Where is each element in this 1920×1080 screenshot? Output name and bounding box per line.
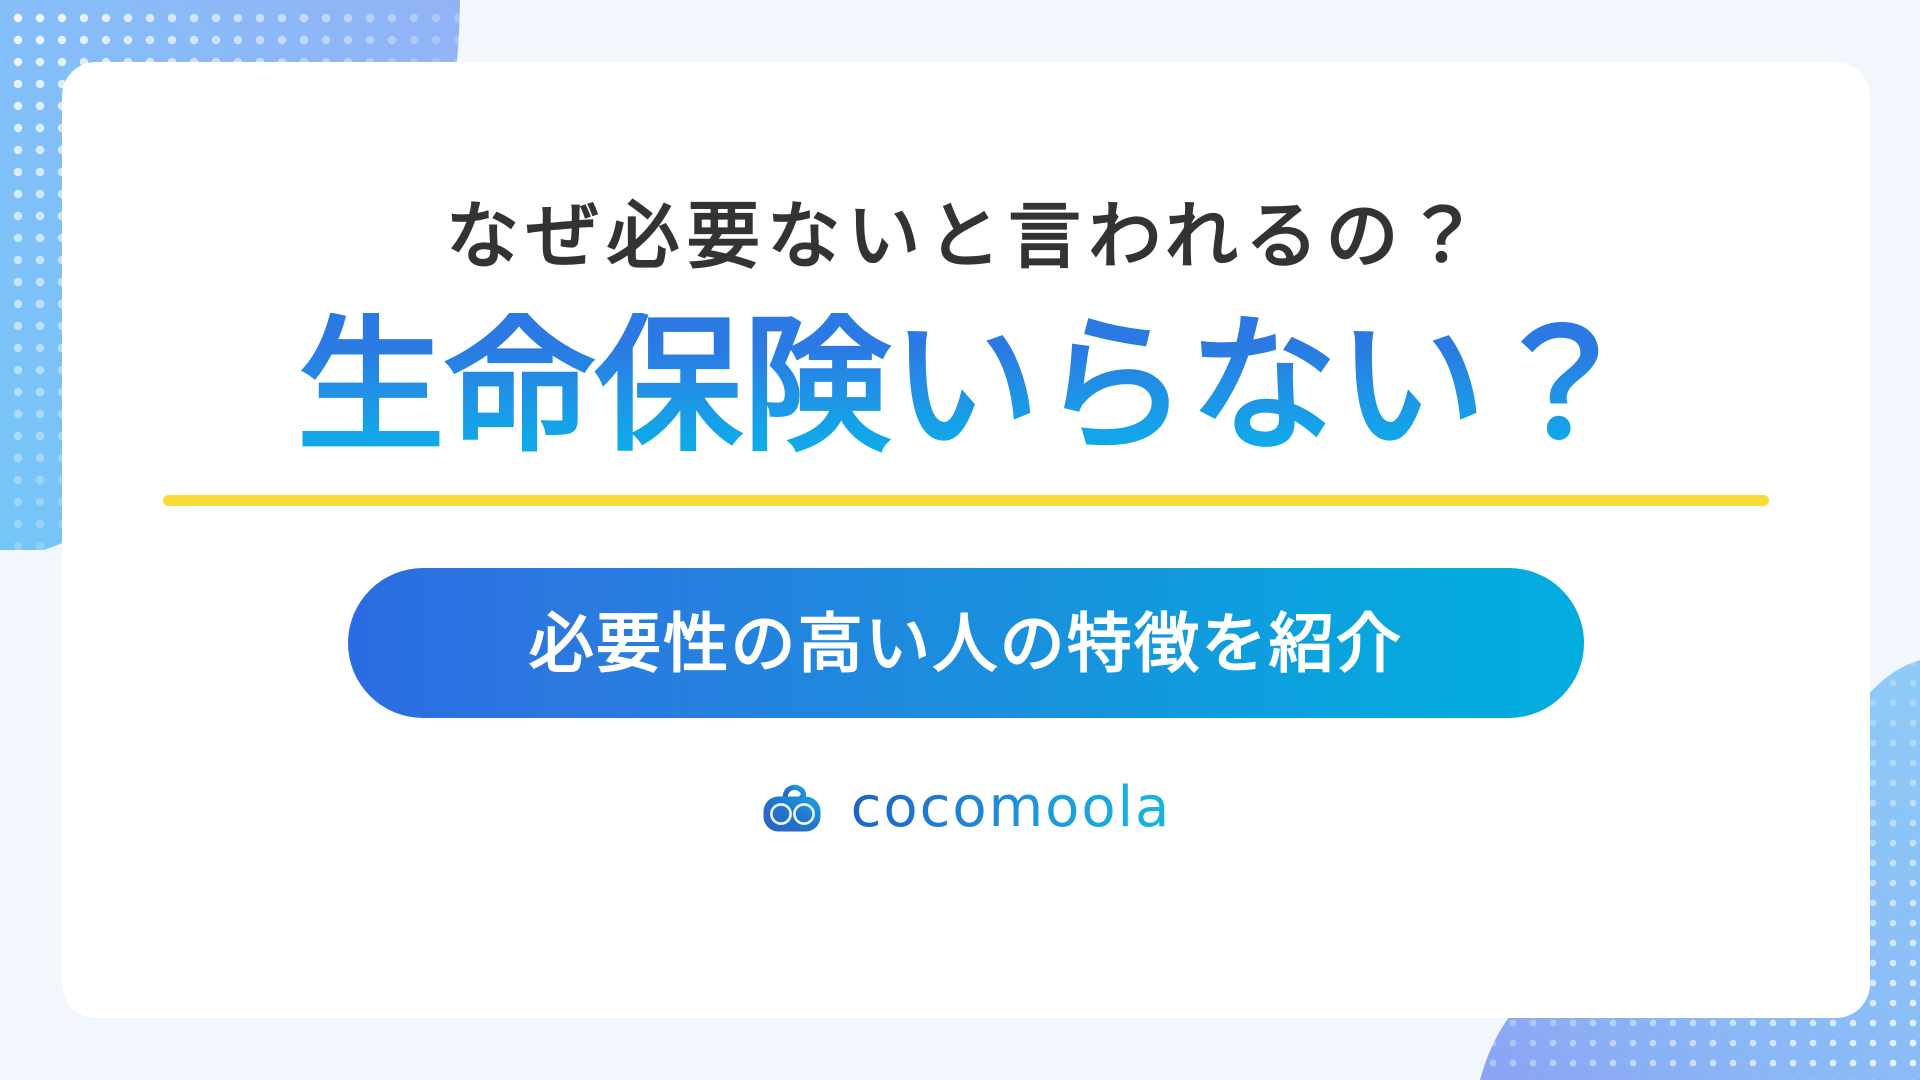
- cta-button[interactable]: 必要性の高い人の特徴を紹介: [348, 568, 1584, 718]
- page-title: 生命保険いらない？: [297, 313, 1636, 461]
- cta-button-label: 必要性の高い人の特徴を紹介: [529, 611, 1404, 676]
- kicker-heading: なぜ必要ないと言われるの？: [446, 200, 1486, 273]
- content-card: なぜ必要ないと言われるの？ 生命保険いらない？ 必要性の高い人の特徴を紹介: [62, 62, 1870, 1018]
- brand-name: cocomoola: [851, 780, 1172, 836]
- cocomoola-robot-icon: [761, 782, 829, 834]
- eyecatch-canvas: なぜ必要ないと言われるの？ 生命保険いらない？ 必要性の高い人の特徴を紹介: [0, 0, 1920, 1080]
- brand-logo[interactable]: cocomoola: [761, 780, 1172, 836]
- yellow-divider: [163, 495, 1769, 506]
